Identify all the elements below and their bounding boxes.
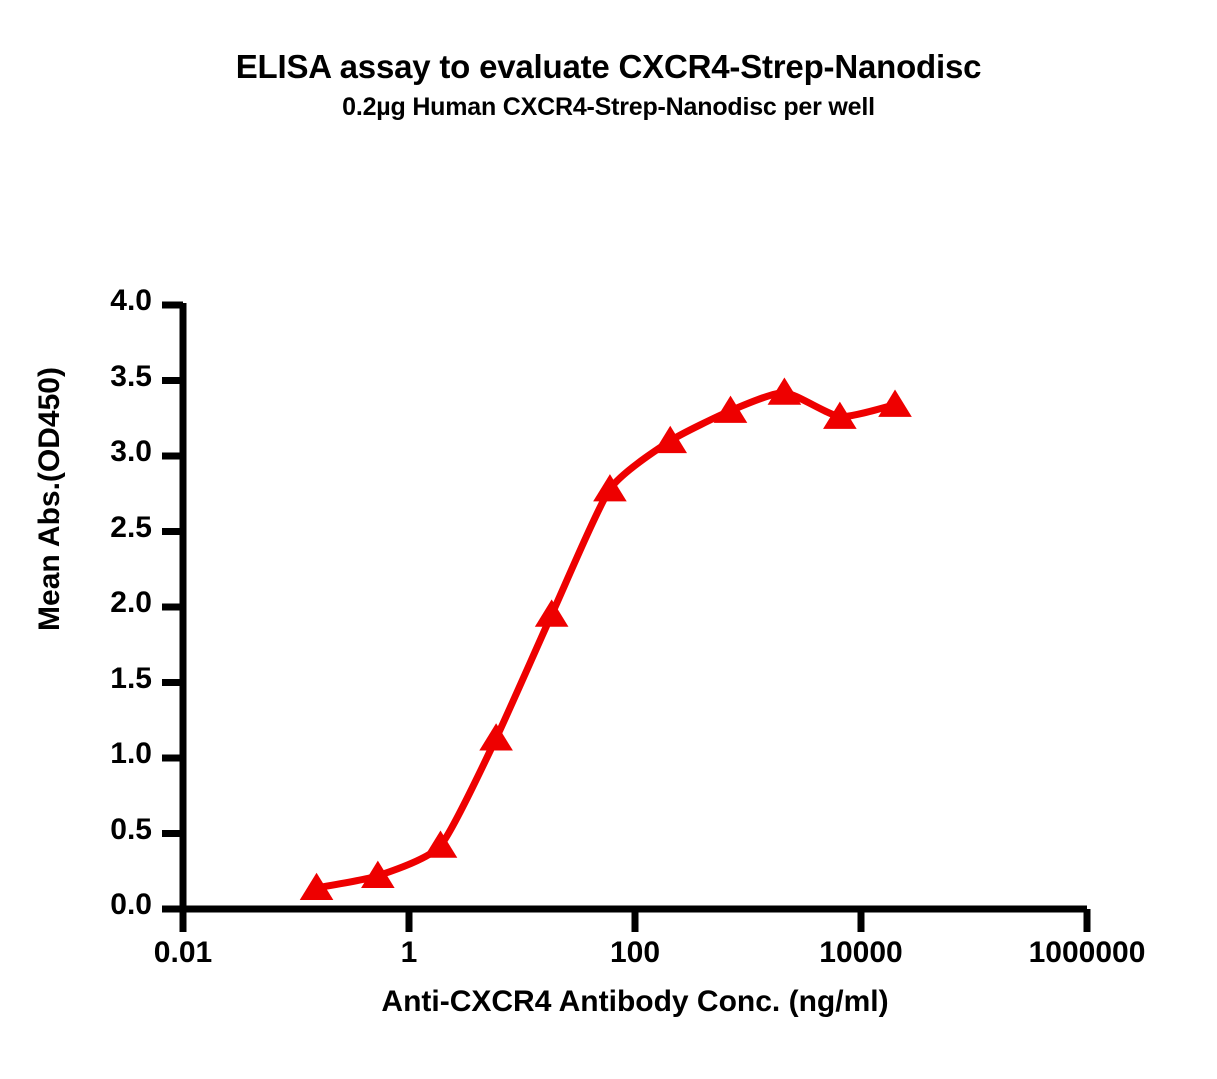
- elisa-chart-figure: ELISA assay to evaluate CXCR4-Strep-Nano…: [0, 0, 1217, 1079]
- data-point-marker: [535, 599, 569, 626]
- y-tick-label: 0.5: [0, 813, 152, 847]
- y-tick-label: 3.5: [0, 360, 152, 394]
- x-axis-label: Anti-CXCR4 Antibody Conc. (ng/ml): [183, 985, 1087, 1019]
- y-tick-label: 0.0: [0, 888, 152, 922]
- x-tick-label: 1000000: [947, 936, 1217, 970]
- data-point-marker: [653, 426, 687, 453]
- y-tick-label: 1.5: [0, 662, 152, 696]
- data-point-marker: [479, 723, 513, 750]
- y-tick-label: 2.0: [0, 586, 152, 620]
- axes-group: [180, 303, 1087, 911]
- plot-canvas: [0, 0, 1217, 1079]
- data-markers-group: [300, 377, 912, 900]
- data-point-marker: [878, 390, 912, 417]
- y-tick-label: 2.5: [0, 511, 152, 545]
- y-tick-label: 4.0: [0, 284, 152, 318]
- sigmoid-fit-curve: [317, 393, 896, 888]
- data-point-marker: [424, 830, 458, 857]
- y-tick-label: 1.0: [0, 737, 152, 771]
- y-tick-label: 3.0: [0, 435, 152, 469]
